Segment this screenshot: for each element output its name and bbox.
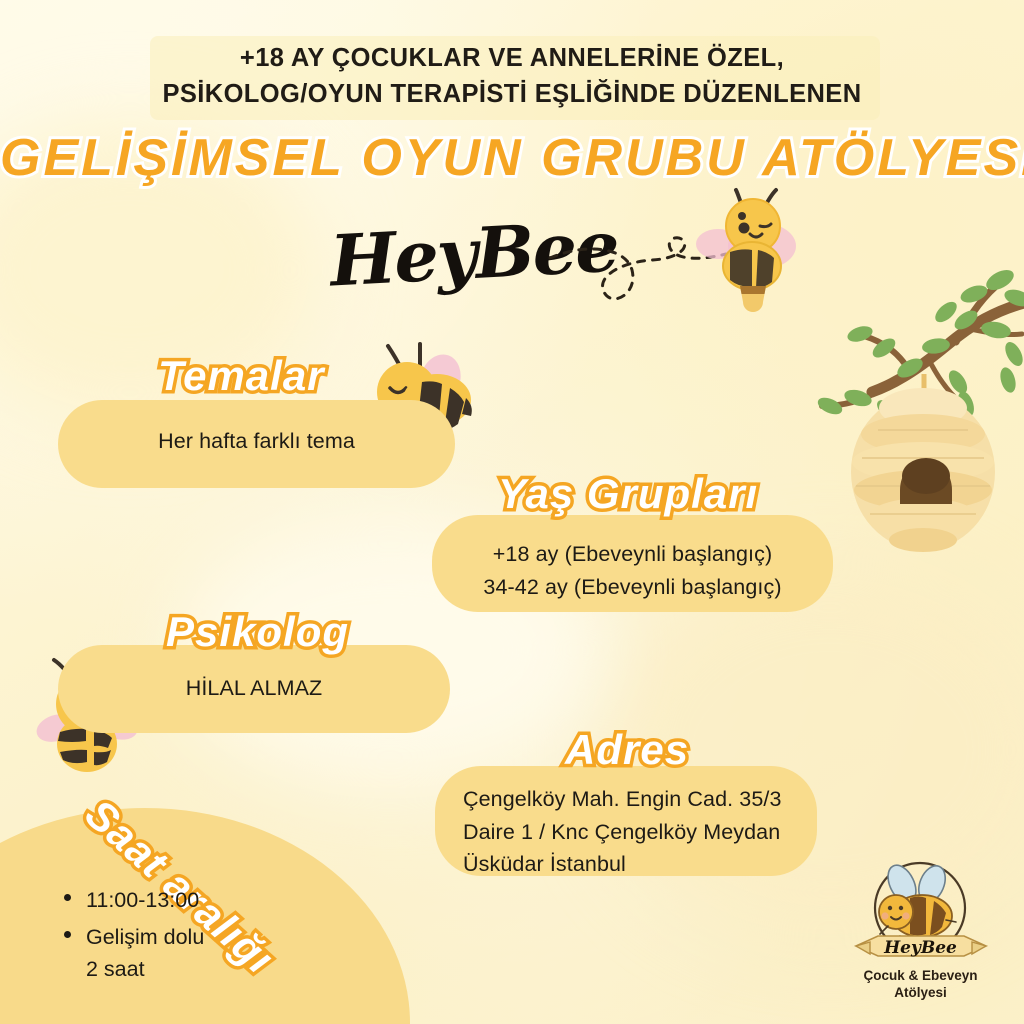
adres-body: Çengelköy Mah. Engin Cad. 35/3 Daire 1 /… bbox=[463, 783, 813, 881]
adres-line-1: Çengelköy Mah. Engin Cad. 35/3 bbox=[463, 783, 813, 816]
saat-item-line-2: 2 saat bbox=[86, 957, 145, 981]
footer-logo: HeyBee Çocuk & Ebeveyn Atölyesi bbox=[838, 860, 1003, 1010]
footer-logo-line-2: Atölyesi bbox=[838, 985, 1003, 1002]
heading-temalar: Temalar bbox=[158, 352, 325, 400]
kicker-line-2: PSİKOLOG/OYUN TERAPİSTİ EŞLİĞİNDE DÜZENL… bbox=[90, 76, 934, 112]
yas-line-1: +18 ay (Ebeveynli başlangıç) bbox=[432, 538, 833, 571]
adres-line-2: Daire 1 / Knc Çengelköy Meydan bbox=[463, 816, 813, 849]
page-title: GELİŞİMSEL OYUN GRUBU ATÖLYESİ bbox=[0, 128, 1024, 188]
saat-araligi-list: 11:00-13:00 Gelişim dolu 2 saat bbox=[58, 884, 358, 990]
heading-yas-gruplari: Yaş Grupları bbox=[498, 470, 758, 518]
footer-logo-caption: Çocuk & Ebeveyn Atölyesi bbox=[838, 968, 1003, 1002]
poster-canvas: +18 AY ÇOCUKLAR VE ANNELERİNE ÖZEL, PSİK… bbox=[0, 0, 1024, 1024]
list-item: 11:00-13:00 bbox=[58, 884, 358, 917]
yas-line-2: 34-42 ay (Ebeveynli başlangıç) bbox=[432, 571, 833, 604]
tree-branch-with-leaves-icon bbox=[760, 250, 1024, 450]
list-item: Gelişim dolu 2 saat bbox=[58, 921, 358, 986]
heading-psikolog: Psikolog bbox=[166, 608, 349, 656]
bee-with-honeypot-icon bbox=[700, 186, 810, 312]
kicker-text: +18 AY ÇOCUKLAR VE ANNELERİNE ÖZEL, PSİK… bbox=[90, 40, 934, 112]
footer-logo-ribbon-word: HeyBee bbox=[838, 938, 1003, 958]
brand-wordmark: HeyBee bbox=[328, 205, 620, 303]
adres-line-3: Üsküdar İstanbul bbox=[463, 848, 813, 881]
heading-adres: Adres bbox=[565, 726, 689, 774]
beehive-icon bbox=[828, 372, 1018, 552]
temalar-body: Her hafta farklı tema bbox=[58, 425, 455, 458]
saat-item-line-1: Gelişim dolu bbox=[86, 925, 204, 949]
footer-logo-line-1: Çocuk & Ebeveyn bbox=[838, 968, 1003, 985]
yas-gruplari-body: +18 ay (Ebeveynli başlangıç) 34-42 ay (E… bbox=[432, 538, 833, 603]
kicker-line-1: +18 AY ÇOCUKLAR VE ANNELERİNE ÖZEL, bbox=[90, 40, 934, 76]
psikolog-body: HİLAL ALMAZ bbox=[58, 672, 450, 705]
